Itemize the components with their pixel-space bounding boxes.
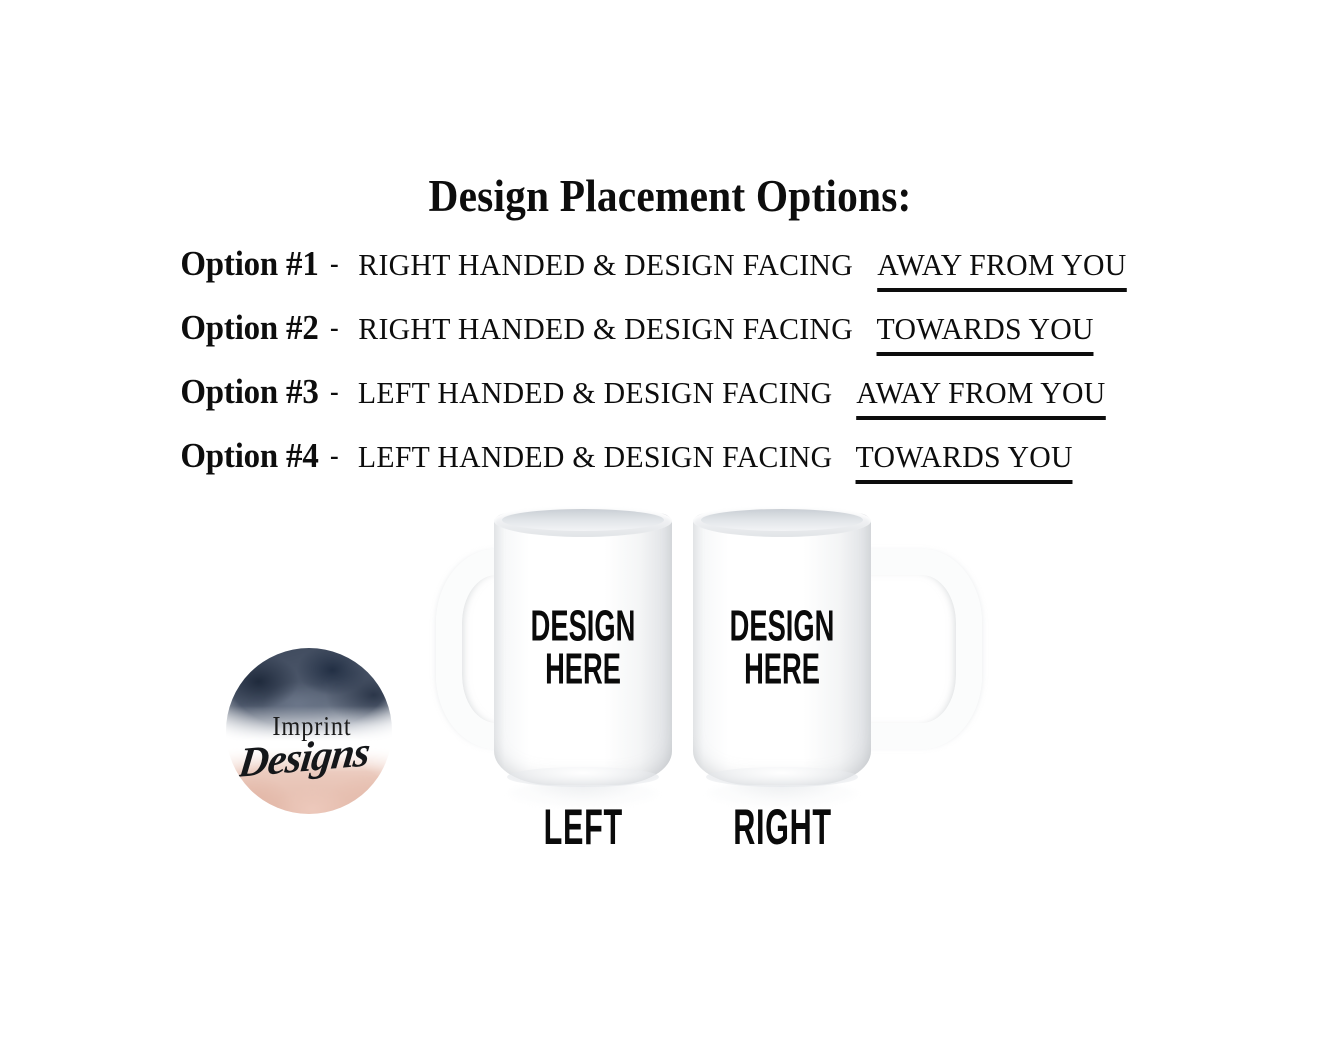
option-body-text: RIGHT HANDED & DESIGN FACING [358,247,853,283]
option-separator: - [323,313,348,343]
option-emphasis-text: AWAY FROM YOU [877,247,1126,292]
mug-caption-left-text: LEFT [543,798,622,856]
option-separator: - [323,441,348,471]
mug-rim [693,505,871,537]
mug-body [693,513,871,785]
option-row[interactable]: Option #2 - RIGHT HANDED & DESIGN FACING… [176,308,1166,372]
option-label: Option #3 [180,372,318,412]
option-body-text: LEFT HANDED & DESIGN FACING [358,375,833,411]
option-emphasis-text: AWAY FROM YOU [856,375,1105,420]
option-body-text: RIGHT HANDED & DESIGN FACING [358,311,853,347]
option-label: Option #1 [180,244,318,284]
option-body-text: LEFT HANDED & DESIGN FACING [358,439,833,475]
option-row[interactable]: Option #3 - LEFT HANDED & DESIGN FACING … [176,372,1166,436]
mug-caption-left: LEFT [494,801,672,853]
mug-base [706,767,858,787]
option-label: Option #2 [180,308,318,348]
option-row[interactable]: Option #4 - LEFT HANDED & DESIGN FACING … [176,436,1166,500]
option-emphasis-text: TOWARDS YOU [876,311,1093,356]
mug-left[interactable]: DESIGN HERE LEFT [430,505,675,805]
mug-rim-inner [502,509,664,531]
brand-logo: Imprint Designs [226,648,392,814]
option-label: Option #4 [180,436,318,476]
mug-base [507,767,659,787]
mug-rim-inner [701,509,863,531]
mug-rim [494,505,672,537]
mug-right[interactable]: DESIGN HERE RIGHT [690,505,935,805]
mug-body [494,513,672,785]
option-list: Option #1 - RIGHT HANDED & DESIGN FACING… [176,244,1166,500]
mug-caption-right-text: RIGHT [733,798,832,856]
option-emphasis-text: TOWARDS YOU [856,439,1073,484]
page-title: Design Placement Options: [54,170,1287,222]
page-canvas: Design Placement Options: Option #1 - RI… [0,0,1340,1060]
mug-comparison-group: DESIGN HERE LEFT DESIGN HERE RIGHT [425,505,925,865]
option-separator: - [323,249,348,279]
option-separator: - [323,377,348,407]
option-row[interactable]: Option #1 - RIGHT HANDED & DESIGN FACING… [176,244,1166,308]
mug-caption-right: RIGHT [693,801,871,853]
